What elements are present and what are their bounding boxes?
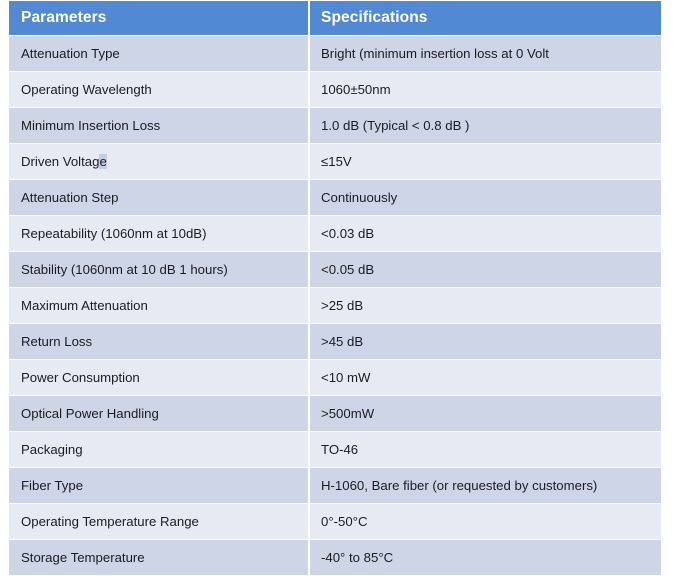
cell-parameter: Packaging — [9, 432, 308, 467]
cell-specification: H-1060, Bare fiber (or requested by cust… — [308, 468, 661, 503]
column-header-parameters: Parameters — [9, 1, 308, 35]
table-row: Power Consumption<10 mW — [9, 360, 661, 395]
table-row: Storage Temperature-40° to 85°C — [9, 540, 661, 575]
table-row: Optical Power Handling>500mW — [9, 396, 661, 431]
table-row: Operating Wavelength1060±50nm — [9, 72, 661, 107]
cell-parameter: Driven Voltage — [9, 144, 308, 179]
table-header: Parameters Specifications — [9, 1, 661, 35]
cell-specification: ≤15V — [308, 144, 661, 179]
cell-parameter: Attenuation Step — [9, 180, 308, 215]
table-row: Attenuation StepContinuously — [9, 180, 661, 215]
table-row: Attenuation TypeBright (minimum insertio… — [9, 36, 661, 71]
cell-specification: <0.05 dB — [308, 252, 661, 287]
table-row: Driven Voltage≤15V — [9, 144, 661, 179]
table-header-row: Parameters Specifications — [9, 1, 661, 35]
cell-parameter: Maximum Attenuation — [9, 288, 308, 323]
cell-specification: 0°-50°C — [308, 504, 661, 539]
cell-specification: 1060±50nm — [308, 72, 661, 107]
cell-specification: 1.0 dB (Typical < 0.8 dB ) — [308, 108, 661, 143]
table-row: PackagingTO-46 — [9, 432, 661, 467]
table-row: Minimum Insertion Loss1.0 dB (Typical < … — [9, 108, 661, 143]
table-row: Maximum Attenuation>25 dB — [9, 288, 661, 323]
cell-specification: >500mW — [308, 396, 661, 431]
table-row: Fiber TypeH-1060, Bare fiber (or request… — [9, 468, 661, 503]
table-row: Return Loss>45 dB — [9, 324, 661, 359]
cell-parameter: Operating Temperature Range — [9, 504, 308, 539]
cell-specification: Bright (minimum insertion loss at 0 Volt — [308, 36, 661, 71]
cell-parameter: Power Consumption — [9, 360, 308, 395]
table-row: Repeatability (1060nm at 10dB)<0.03 dB — [9, 216, 661, 251]
cell-parameter: Optical Power Handling — [9, 396, 308, 431]
cell-parameter: Operating Wavelength — [9, 72, 308, 107]
cell-parameter: Fiber Type — [9, 468, 308, 503]
specifications-table: Parameters Specifications Attenuation Ty… — [9, 0, 661, 576]
cell-specification: TO-46 — [308, 432, 661, 467]
cell-specification: <10 mW — [308, 360, 661, 395]
cell-parameter: Attenuation Type — [9, 36, 308, 71]
cell-specification: >45 dB — [308, 324, 661, 359]
cell-specification: <0.03 dB — [308, 216, 661, 251]
table-row: Stability (1060nm at 10 dB 1 hours)<0.05… — [9, 252, 661, 287]
cell-parameter: Stability (1060nm at 10 dB 1 hours) — [9, 252, 308, 287]
column-header-specifications: Specifications — [308, 1, 661, 35]
cell-parameter: Repeatability (1060nm at 10dB) — [9, 216, 308, 251]
cell-specification: >25 dB — [308, 288, 661, 323]
cell-parameter: Storage Temperature — [9, 540, 308, 575]
cell-specification: Continuously — [308, 180, 661, 215]
cell-parameter: Minimum Insertion Loss — [9, 108, 308, 143]
text-highlight-artifact: e — [99, 154, 106, 169]
cell-parameter: Return Loss — [9, 324, 308, 359]
table-body: Attenuation TypeBright (minimum insertio… — [9, 36, 661, 575]
cell-specification: -40° to 85°C — [308, 540, 661, 575]
table-row: Operating Temperature Range0°-50°C — [9, 504, 661, 539]
